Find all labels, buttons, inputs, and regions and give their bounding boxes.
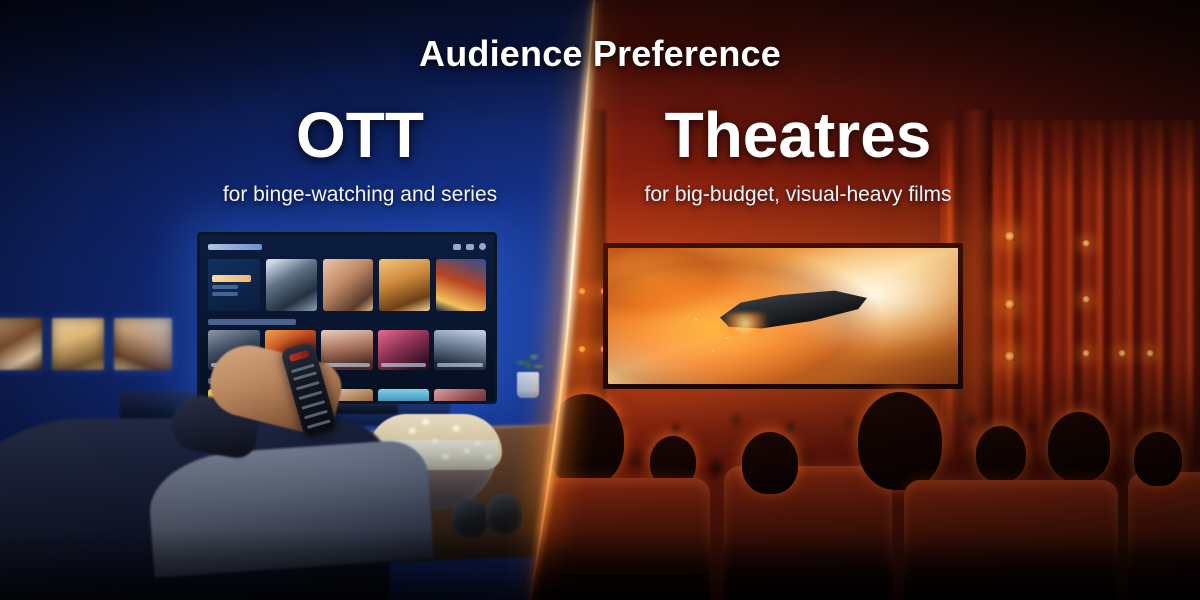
theatres-subtitle: for big-budget, visual-heavy films (598, 183, 998, 207)
ott-heading: OTT (210, 103, 510, 167)
theatres-heading: Theatres (618, 103, 978, 167)
ott-subtitle: for binge-watching and series (175, 183, 545, 207)
audience-preference-banner: Audience Preference OTT for binge-watchi… (0, 0, 1200, 600)
page-title: Audience Preference (0, 33, 1200, 75)
